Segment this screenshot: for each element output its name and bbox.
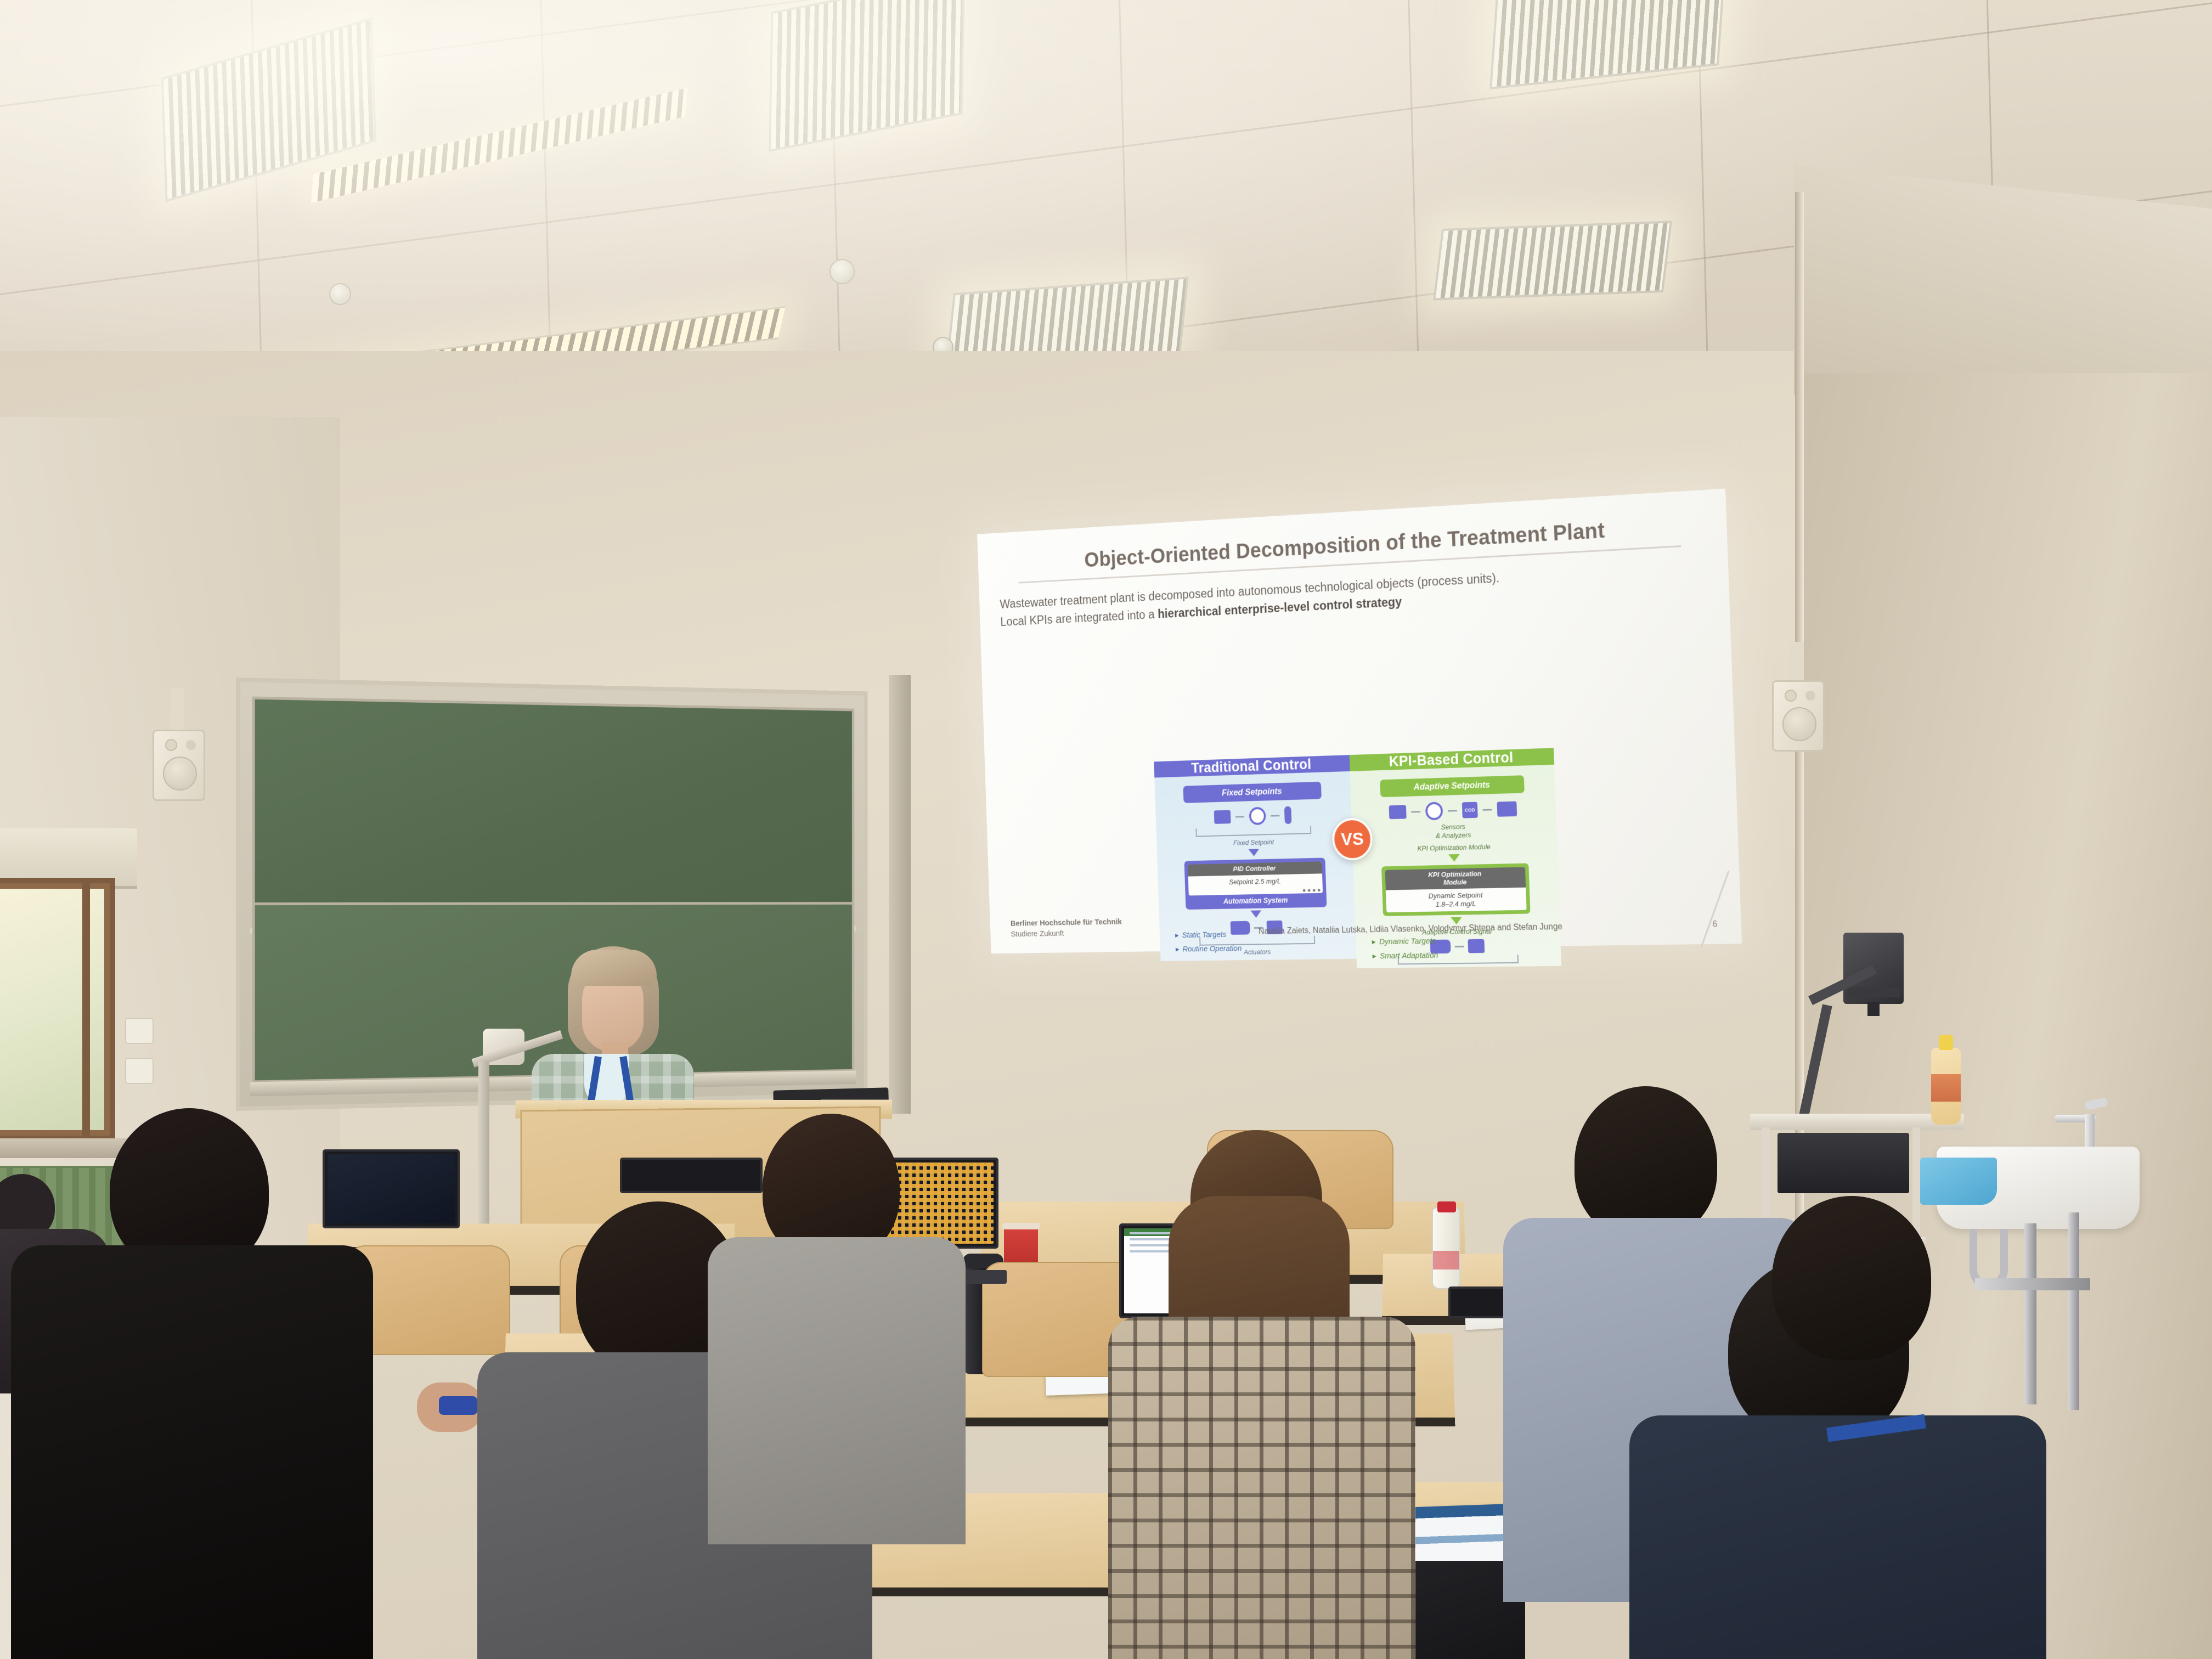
device-screen: PID Controller Setpoint 2.5 mg/L — [1188, 862, 1323, 896]
arrow-down-icon — [1248, 849, 1259, 856]
panel-body-kpi: Adaptive Setpoints COD Sensors — [1350, 765, 1561, 968]
automation-system-device: PID Controller Setpoint 2.5 mg/L Automat… — [1184, 858, 1327, 910]
light-switch[interactable] — [125, 1058, 154, 1084]
dish-soap-bottle — [1931, 1048, 1961, 1125]
tweeter-icon — [1805, 691, 1815, 701]
cod-icon: COD — [1462, 802, 1478, 819]
connector-line — [1235, 816, 1244, 817]
kpi-optimization-device: KPI Optimization Module Dynamic Setpoint… — [1381, 863, 1531, 916]
connector-line — [1455, 946, 1464, 947]
monitor-icon — [1497, 801, 1517, 816]
presenter-fringe — [571, 950, 657, 986]
wall-speaker-left — [153, 730, 205, 801]
camera-lens-icon — [1867, 1002, 1880, 1016]
caption-module: Module — [1469, 842, 1491, 851]
water-bottle — [1432, 1207, 1460, 1289]
blue-marker — [439, 1396, 477, 1415]
trolley-leg — [1912, 1127, 1920, 1243]
media-equipment-box — [1778, 1133, 1909, 1193]
horizontal-pipe — [1975, 1278, 2090, 1290]
laptop-front-left[interactable] — [323, 1149, 460, 1259]
bullet-dynamic-targets: Dynamic Targets — [1372, 936, 1437, 946]
projection-screen: Object-Oriented Decomposition of the Tre… — [977, 489, 1742, 954]
thermometer-icon — [1284, 806, 1292, 824]
connector-line — [1271, 815, 1279, 816]
attendee-torso — [708, 1237, 966, 1544]
wall-speaker-right — [1772, 680, 1825, 752]
device-screen: KPI Optimization Module Dynamic Setpoint… — [1385, 867, 1527, 912]
light-switch[interactable] — [125, 1018, 154, 1044]
laptop-screen — [328, 1154, 455, 1223]
camera-label-strip — [1847, 988, 1900, 997]
window — [0, 878, 115, 1141]
closed-laptop-left — [620, 1158, 763, 1207]
cup-rim — [1002, 1223, 1040, 1229]
kpi-module-label-line1: KPI Optimization — [1428, 870, 1481, 879]
sensor-icon-row-kpi: COD — [1356, 799, 1551, 822]
connector-line — [1448, 810, 1457, 811]
analyzer-icon — [1425, 802, 1443, 820]
laptop-lid — [620, 1158, 763, 1193]
bottle-label — [1931, 1074, 1961, 1102]
caption-analyzers: & Analyzers — [1436, 831, 1471, 840]
laptop-lid — [323, 1149, 460, 1228]
arrow-down-icon — [1448, 854, 1460, 862]
attendee-head — [1772, 1196, 1931, 1361]
chip-adaptive-setpoints: Adaptive Setpoints — [1380, 775, 1525, 797]
bullet-smart-adaptation: Smart Adaptation — [1372, 950, 1438, 961]
subtitle-line-2-prefix: Local KPIs are integrated into a — [1000, 607, 1158, 629]
bottle-cap-icon — [1437, 1201, 1456, 1212]
attendee-torso — [11, 1245, 373, 1659]
presentation-slide: Object-Oriented Decomposition of the Tre… — [977, 489, 1742, 954]
tweeter-icon — [1785, 690, 1797, 702]
window-mullion — [82, 878, 90, 1141]
connector-line — [1411, 811, 1420, 812]
automation-system-label: Automation System — [1189, 895, 1324, 906]
kpi-module-label-line2: Module — [1443, 878, 1467, 886]
footer-institution: Berliner Hochschule für Technik Studiere… — [1011, 916, 1122, 940]
caption-sensors: Sensors — [1441, 822, 1465, 831]
dynamic-setpoint-label: Dynamic Setpoint — [1429, 891, 1483, 900]
panel-kpi-based-control: KPI-Based Control Adaptive Setpoints COD — [1350, 748, 1559, 900]
attendee-head — [1575, 1086, 1717, 1240]
tweeter-icon — [165, 739, 177, 751]
attendee-torso — [1629, 1415, 2046, 1659]
supply-pipe — [2068, 1212, 2079, 1410]
speaker-cone-icon — [1782, 707, 1816, 741]
kpi-module-label: KPI Optimization Module — [1385, 867, 1526, 890]
caption-kpi-opt: KPI Optimization — [1417, 843, 1466, 853]
sensor-icon-row-traditional — [1160, 805, 1347, 828]
bottle-label — [1433, 1251, 1459, 1269]
caption-kpi-module: KPI Optimization Module — [1358, 841, 1552, 854]
attendee-torso — [1108, 1317, 1415, 1659]
sensor-icon — [1389, 805, 1407, 819]
dynamic-setpoint-range: 1.8–2.4 mg/L — [1436, 900, 1476, 909]
panel-traditional-control: Traditional Control Fixed Setpoints Fixe… — [1154, 755, 1355, 904]
comparison-panels: Traditional Control Fixed Setpoints Fixe… — [1154, 748, 1559, 904]
bracket-line — [1196, 826, 1312, 837]
institution-tagline: Studiere Zukunft — [1011, 928, 1122, 940]
caption-sensors-analyzers: Sensors & Analyzers — [1357, 820, 1551, 843]
chalkboard-side-panel — [889, 675, 911, 1114]
bullet-routine-operation: Routine Operation — [1176, 943, 1242, 953]
dynamic-setpoint-value: Dynamic Setpoint 1.8–2.4 mg/L — [1386, 887, 1527, 912]
tweeter-icon — [186, 740, 196, 750]
speaker-cone-icon — [163, 757, 197, 791]
caption-fixed-setpoint: Fixed Setpoint — [1161, 836, 1347, 849]
blue-cleaning-cloth — [1920, 1158, 1997, 1205]
gauge-icon — [1249, 807, 1266, 825]
window-sill — [0, 1138, 132, 1158]
lecture-hall-photo: Object-Oriented Decomposition of the Tre… — [0, 0, 2212, 1659]
bullets-kpi: Dynamic Targets Smart Adaptation — [1372, 932, 1438, 961]
institution-name: Berliner Hochschule für Technik — [1011, 917, 1122, 928]
bottle-cap-icon — [1939, 1035, 1953, 1050]
speaker-bracket — [170, 689, 184, 735]
valve-icon — [1468, 939, 1485, 953]
chip-fixed-setpoints: Fixed Setpoints — [1183, 782, 1322, 803]
footer-slide-number: 6 — [1712, 920, 1717, 930]
transmitter-icon — [1214, 810, 1231, 823]
connector-line — [1483, 809, 1492, 810]
drain-pipe — [2024, 1223, 2036, 1404]
